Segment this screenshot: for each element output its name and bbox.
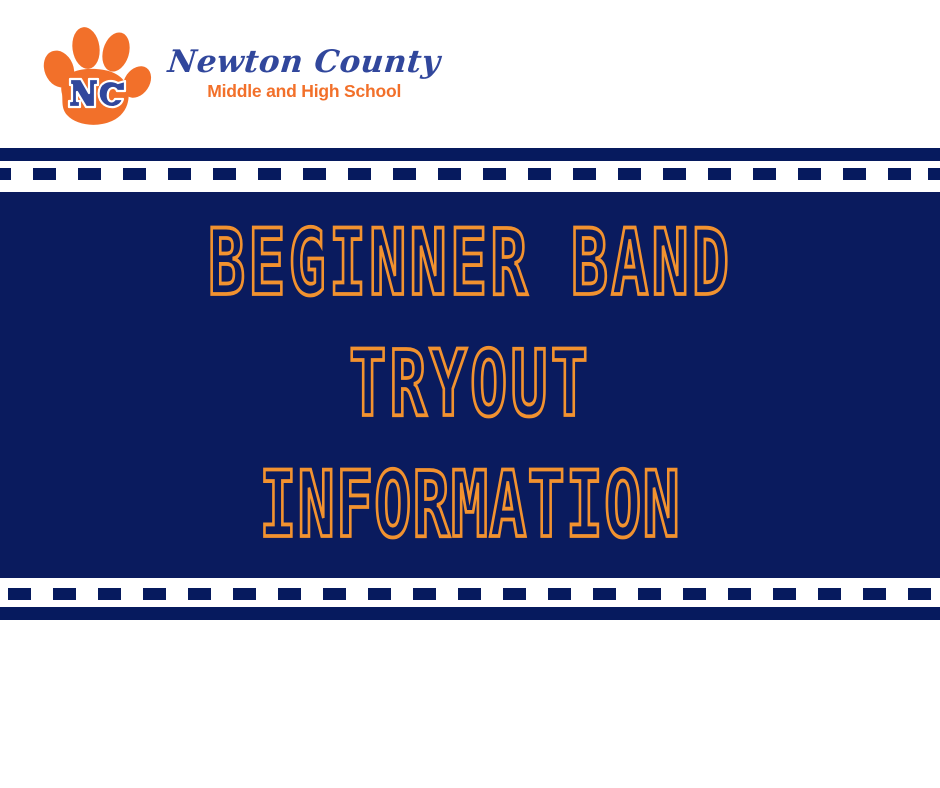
navy-dashed-rule-bottom bbox=[0, 588, 940, 600]
school-wordmark: Newton County Middle and High School bbox=[168, 46, 440, 109]
navy-solid-rule-bottom bbox=[0, 607, 940, 620]
school-logo-lockup: Newton County Middle and High School bbox=[42, 22, 440, 132]
navy-solid-rule-top bbox=[0, 148, 940, 161]
navy-dashed-rule-top bbox=[0, 168, 940, 180]
school-name: Newton County bbox=[166, 46, 442, 79]
title-line-3: INFORMATION bbox=[0, 451, 940, 558]
page-header: Newton County Middle and High School bbox=[0, 0, 940, 148]
title-line-2: TRYOUT bbox=[0, 330, 940, 437]
title-line-1: BEGINNER BAND bbox=[0, 209, 940, 316]
tiger-paw-icon bbox=[42, 22, 154, 132]
school-subtitle: Middle and High School bbox=[207, 81, 401, 102]
divider-bottom bbox=[0, 578, 940, 620]
divider-top bbox=[0, 148, 940, 192]
hero-banner: BEGINNER BAND TRYOUT INFORMATION bbox=[0, 192, 940, 578]
footer-whitespace bbox=[0, 620, 940, 788]
page-title: BEGINNER BAND TRYOUT INFORMATION bbox=[0, 208, 940, 563]
